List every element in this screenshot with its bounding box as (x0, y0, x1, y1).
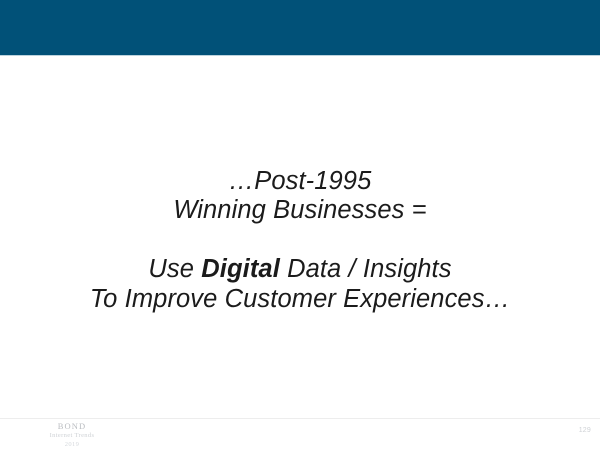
statement-line-1: …Post-1995 (20, 167, 580, 197)
slide-body: …Post-1995 Winning Businesses = Use Digi… (0, 55, 600, 418)
statement-line-4: To Improve Customer Experiences… (20, 285, 580, 315)
statement-line-3-emphasis: Digital (201, 255, 280, 283)
statement-block: …Post-1995 Winning Businesses = Use Digi… (20, 167, 580, 315)
brand-subtitle: Internet Trends (12, 433, 132, 440)
header-band (0, 0, 600, 55)
slide: …Post-1995 Winning Businesses = Use Digi… (0, 0, 600, 450)
statement-line-3-suffix: Data / Insights (280, 255, 452, 283)
page-number: 129 (579, 427, 591, 434)
statement-line-spacer (20, 226, 580, 256)
statement-line-3: Use Digital Data / Insights (20, 255, 580, 285)
slide-footer: BOND Internet Trends 2019 129 (0, 419, 600, 450)
brand-mark: BOND Internet Trends 2019 (12, 422, 132, 448)
statement-line-2: Winning Businesses = (20, 196, 580, 226)
statement-line-3-prefix: Use (148, 255, 201, 283)
brand-name: BOND (12, 422, 132, 431)
brand-year: 2019 (12, 442, 132, 449)
